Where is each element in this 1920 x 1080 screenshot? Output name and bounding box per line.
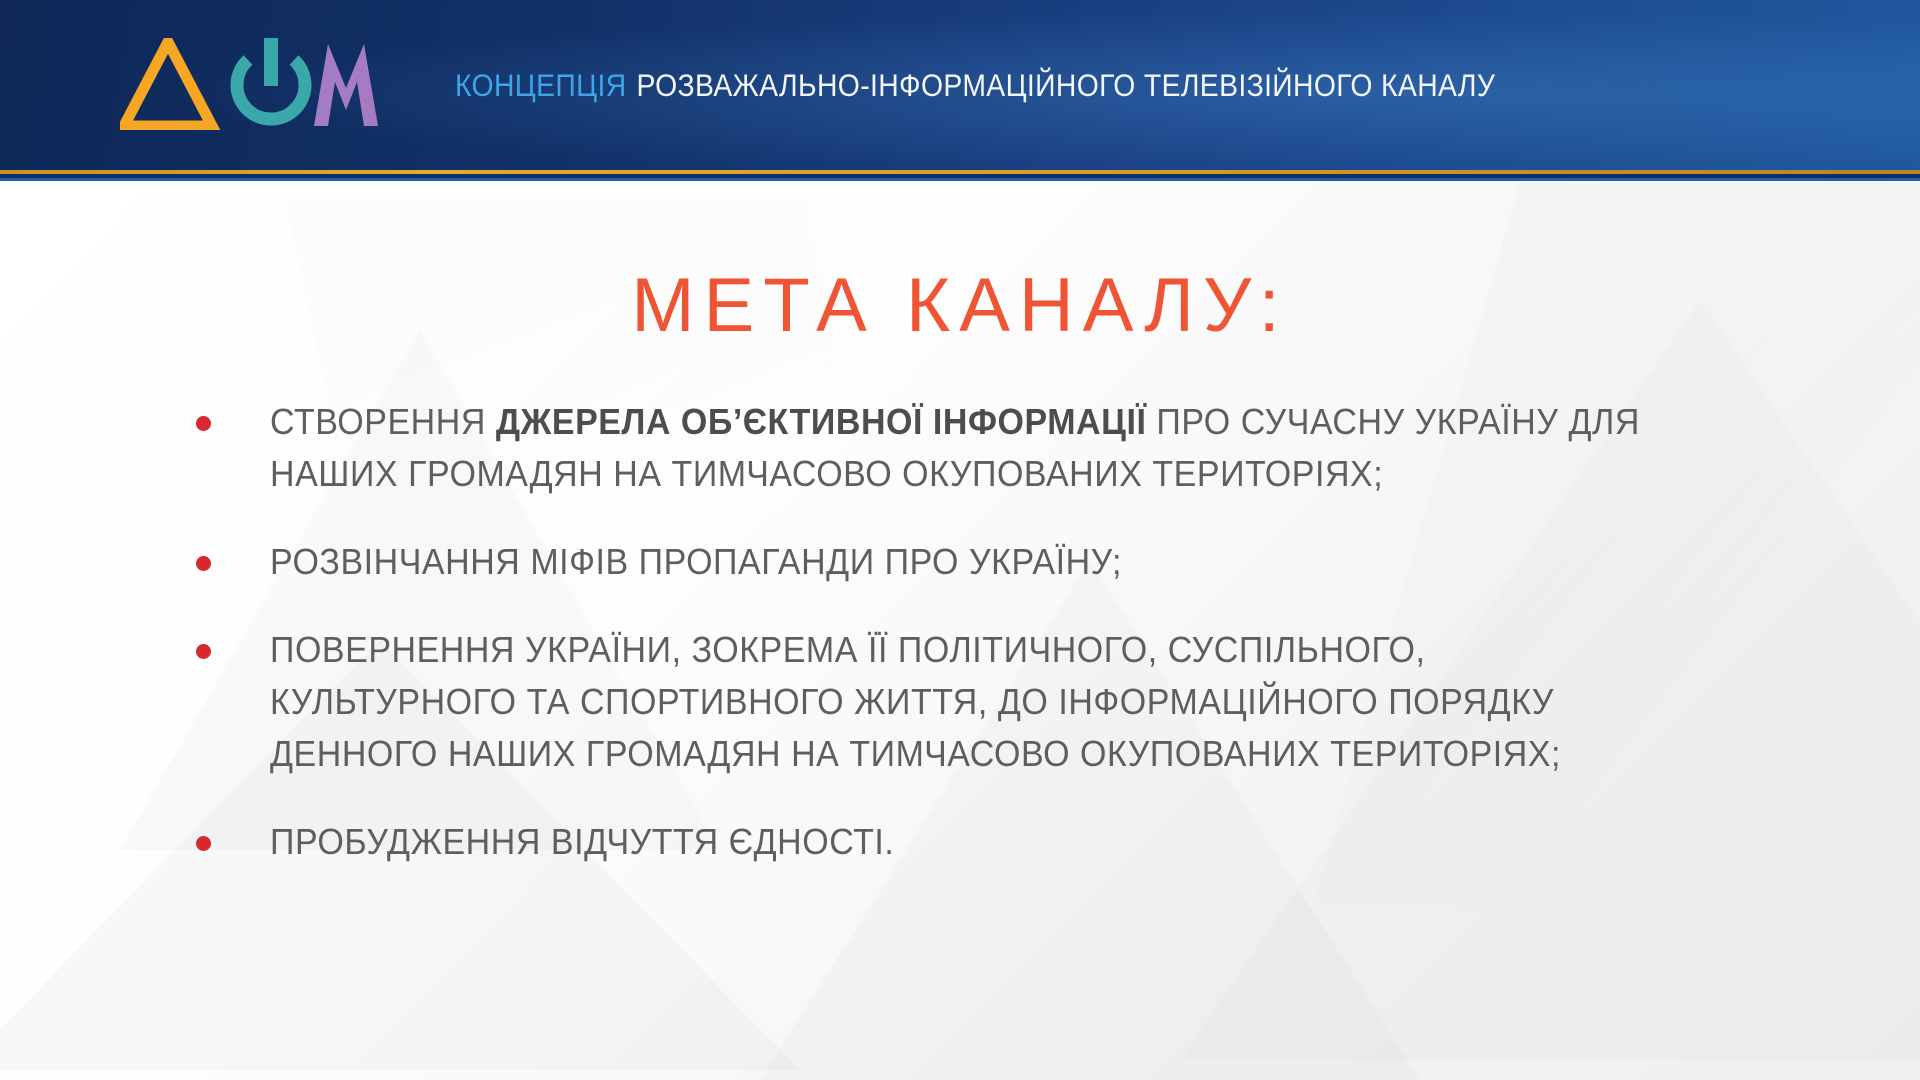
- bullet-text: СТВОРЕННЯ ДЖЕРЕЛА ОБ’ЄКТИВНОЇ ІНФОРМАЦІЇ…: [270, 396, 1652, 500]
- bullet-dot-icon: [196, 644, 211, 659]
- header-blue-rule: [0, 178, 1920, 181]
- list-item: РОЗВІНЧАННЯ МІФІВ ПРОПАГАНДИ ПРО УКРАЇНУ…: [196, 536, 1756, 588]
- logo-m-letter: [314, 44, 378, 126]
- dom-logo: [120, 38, 385, 130]
- bullet-dot-icon: [196, 556, 211, 571]
- presentation-slide: КОНЦЕПЦІЯ РОЗВАЖАЛЬНО-ІНФОРМАЦІЙНОГО ТЕЛ…: [0, 0, 1920, 1080]
- list-item: ПОВЕРНЕННЯ УКРАЇНИ, ЗОКРЕМА ЇЇ ПОЛІТИЧНО…: [196, 624, 1756, 780]
- logo-triangle-icon: [124, 42, 212, 126]
- logo-power-bar-icon: [264, 38, 278, 86]
- list-item: СТВОРЕННЯ ДЖЕРЕЛА ОБ’ЄКТИВНОЇ ІНФОРМАЦІЇ…: [196, 396, 1756, 500]
- bullet-text: ПОВЕРНЕННЯ УКРАЇНИ, ЗОКРЕМА ЇЇ ПОЛІТИЧНО…: [270, 624, 1652, 780]
- slide-title: МЕТА КАНАЛУ:: [0, 268, 1920, 344]
- list-item: ПРОБУДЖЕННЯ ВІДЧУТТЯ ЄДНОСТІ.: [196, 816, 1756, 868]
- bullet-lead-text: СТВОРЕННЯ: [270, 401, 496, 442]
- bullet-bold-text: ДЖЕРЕЛА ОБ’ЄКТИВНОЇ ІНФОРМАЦІЇ: [496, 401, 1146, 442]
- bullet-text: ПРОБУДЖЕННЯ ВІДЧУТТЯ ЄДНОСТІ.: [270, 816, 1652, 868]
- bullet-text: РОЗВІНЧАННЯ МІФІВ ПРОПАГАНДИ ПРО УКРАЇНУ…: [270, 536, 1652, 588]
- header-title-rest: РОЗВАЖАЛЬНО-ІНФОРМАЦІЙНОГО ТЕЛЕВІЗІЙНОГО…: [636, 67, 1495, 104]
- bullet-dot-icon: [196, 416, 211, 431]
- header-title-accent: КОНЦЕПЦІЯ: [455, 67, 627, 104]
- header-title: КОНЦЕПЦІЯ РОЗВАЖАЛЬНО-ІНФОРМАЦІЙНОГО ТЕЛ…: [455, 0, 1495, 170]
- bullet-dot-icon: [196, 836, 211, 851]
- slide-header-banner: КОНЦЕПЦІЯ РОЗВАЖАЛЬНО-ІНФОРМАЦІЙНОГО ТЕЛ…: [0, 0, 1920, 170]
- bullet-list: СТВОРЕННЯ ДЖЕРЕЛА ОБ’ЄКТИВНОЇ ІНФОРМАЦІЇ…: [196, 396, 1756, 868]
